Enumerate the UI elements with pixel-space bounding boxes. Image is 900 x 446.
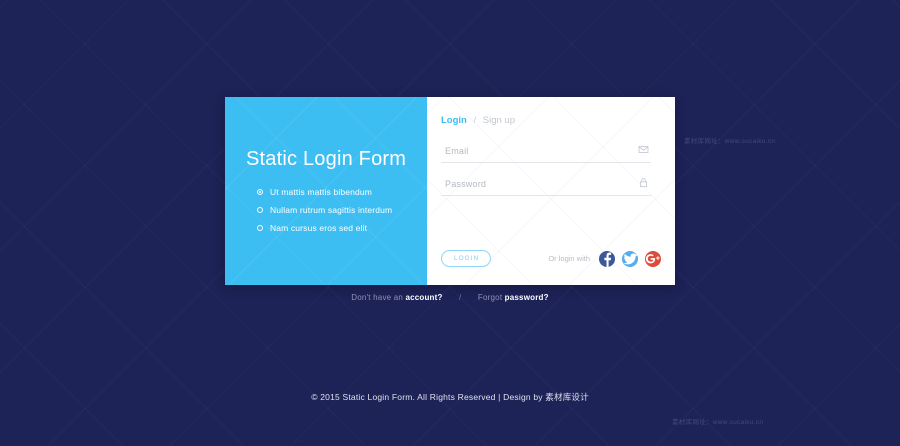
signup-link[interactable]: Don't have an account? [351, 293, 442, 302]
password-input[interactable] [441, 173, 651, 195]
page-stage: Static Login Form Ut mattis mattis biben… [0, 0, 900, 446]
secondary-links: Don't have an account? / Forgot password… [0, 293, 900, 302]
feature-label: Nam cursus eros sed elit [270, 223, 367, 233]
tab-separator: / [474, 115, 477, 126]
list-item: Nam cursus eros sed elit [257, 223, 392, 233]
forgot-password-link[interactable]: Forgot password? [478, 293, 549, 302]
feature-label: Ut mattis mattis bibendum [270, 187, 372, 197]
form-inner: Login / Sign up [427, 97, 675, 196]
form-panel: Login / Sign up [427, 97, 675, 285]
feature-label: Nullam rutrum sagittis interdum [270, 205, 392, 215]
lock-icon [638, 177, 649, 188]
social-login-buttons [599, 251, 661, 267]
envelope-icon [638, 144, 649, 155]
password-field-wrapper [441, 173, 651, 196]
login-button[interactable]: LOGIN [441, 250, 491, 267]
form-actions: LOGIN Or login with [441, 250, 661, 267]
footer-copyright: © 2015 Static Login Form. All Rights Res… [0, 391, 900, 403]
login-card: Static Login Form Ut mattis mattis biben… [225, 97, 675, 285]
signup-link-prefix: Don't have an [351, 293, 405, 302]
tab-login[interactable]: Login [441, 115, 467, 126]
or-login-with-label: Or login with [548, 254, 590, 263]
promo-panel: Static Login Form Ut mattis mattis biben… [225, 97, 427, 285]
tab-signup[interactable]: Sign up [483, 115, 515, 126]
radio-selected-icon [257, 189, 263, 195]
radio-empty-icon [257, 225, 263, 231]
forgot-link-strong: password? [505, 293, 549, 302]
facebook-icon[interactable] [599, 251, 615, 267]
email-field-wrapper [441, 140, 651, 163]
watermark-top: 素材库网址：www.sucaiku.cn [684, 135, 775, 145]
signup-link-strong: account? [405, 293, 442, 302]
twitter-icon[interactable] [622, 251, 638, 267]
email-input[interactable] [441, 140, 651, 162]
googleplus-icon[interactable] [645, 251, 661, 267]
feature-list: Ut mattis mattis bibendum Nullam rutrum … [257, 187, 392, 241]
list-item: Nullam rutrum sagittis interdum [257, 205, 392, 215]
page-title: Static Login Form [246, 148, 406, 171]
links-separator: / [459, 293, 461, 302]
list-item: Ut mattis mattis bibendum [257, 187, 392, 197]
radio-empty-icon [257, 207, 263, 213]
forgot-link-prefix: Forgot [478, 293, 505, 302]
watermark-bottom: 素材库网址：www.sucaiku.cn [672, 416, 763, 426]
auth-tabs: Login / Sign up [441, 115, 651, 126]
